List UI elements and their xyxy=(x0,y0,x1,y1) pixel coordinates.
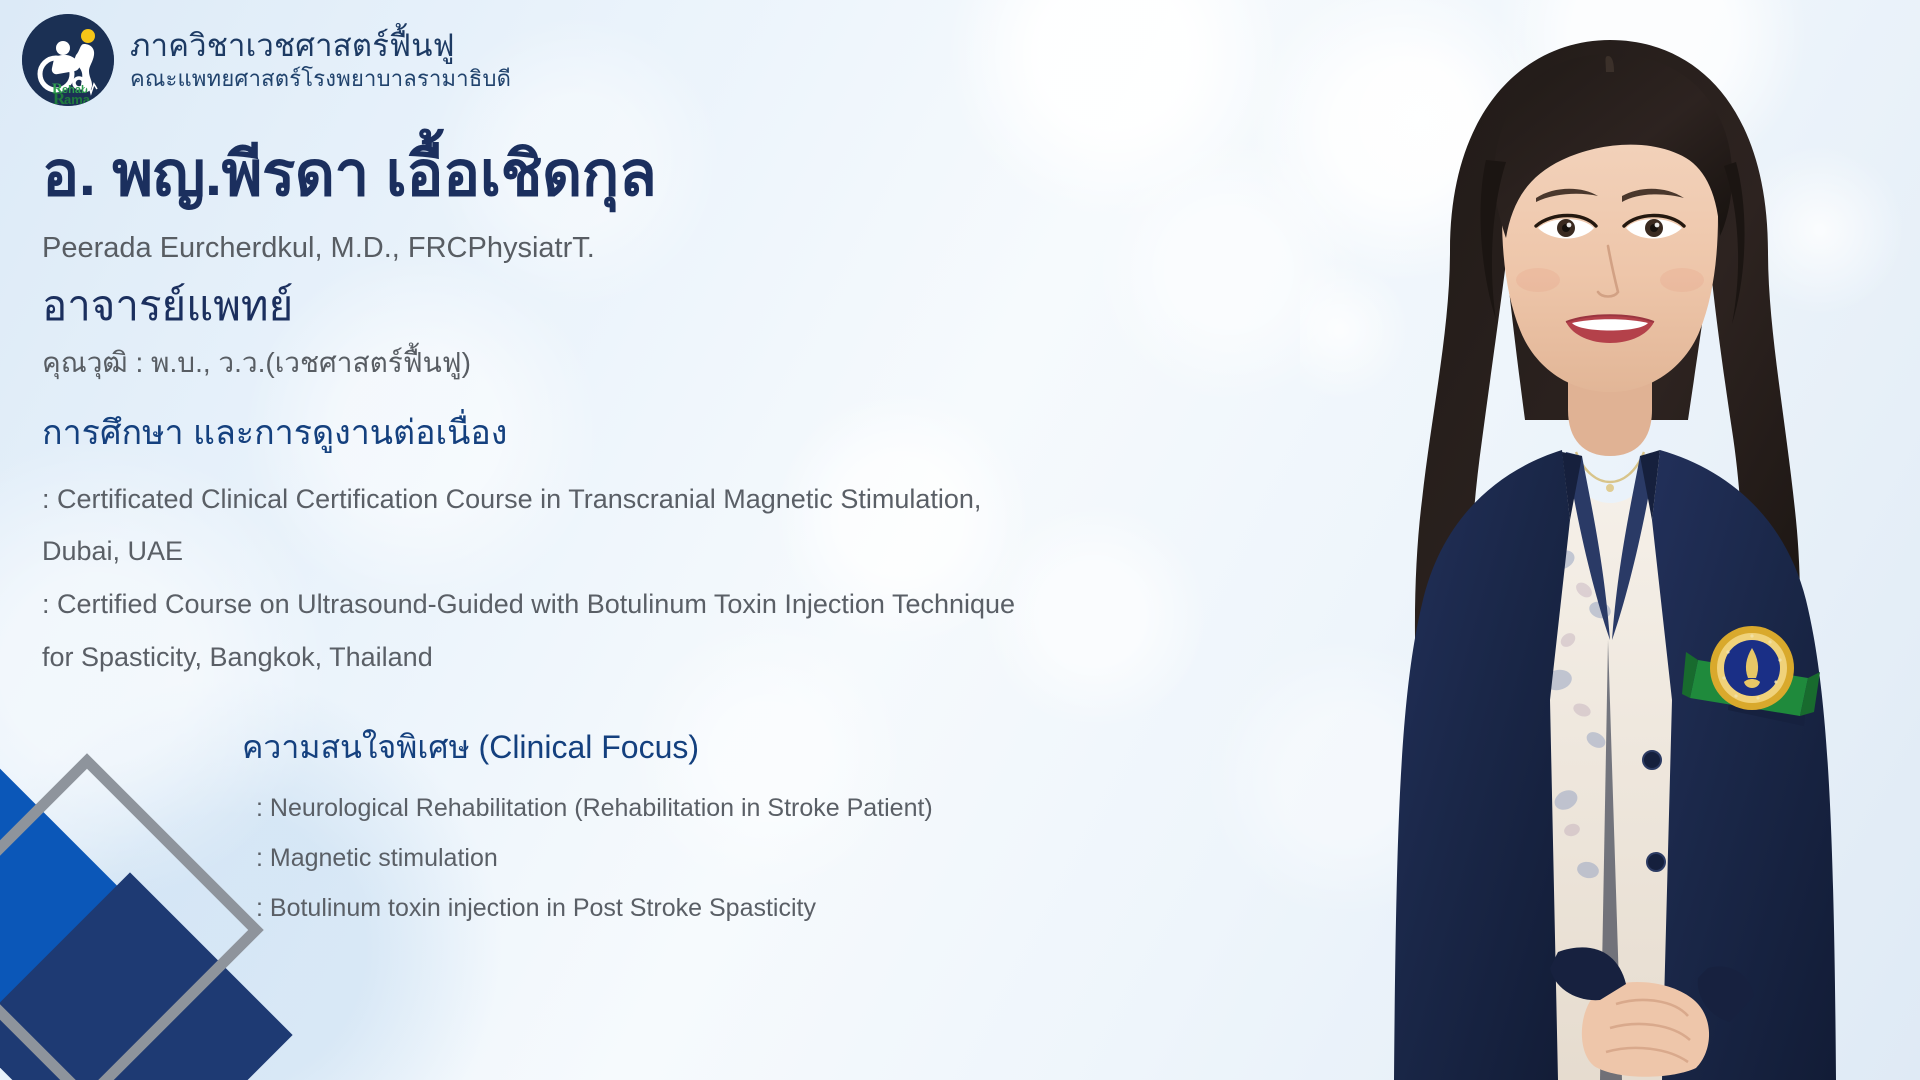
education-item: : Certificated Clinical Certification Co… xyxy=(42,473,1362,526)
clinical-focus-item: : Botulinum toxin injection in Post Stro… xyxy=(256,883,1362,933)
education-heading: การศึกษา และการดูงานต่อเนื่อง xyxy=(42,412,1362,455)
department-title-block: ภาควิชาเวชศาสตร์ฟื้นฟู คณะแพทยศาสตร์โรงพ… xyxy=(130,28,511,92)
rehab-rama-logo-icon: R ehab R ama xyxy=(22,14,114,106)
clinical-focus-item: : Magnetic stimulation xyxy=(256,833,1362,883)
education-item: Dubai, UAE xyxy=(42,525,1362,578)
department-name-th: ภาควิชาเวชศาสตร์ฟื้นฟู xyxy=(130,28,511,64)
doctor-portrait xyxy=(1300,0,1920,1080)
clinical-focus-section: ความสนใจพิเศษ (Clinical Focus) : Neurolo… xyxy=(242,727,1362,933)
faculty-name-th: คณะแพทยศาสตร์โรงพยาบาลรามาธิบดี xyxy=(130,66,511,92)
doctor-qualification-thai: คุณวุฒิ : พ.บ., ว.ว.(เวชศาสตร์ฟื้นฟู) xyxy=(42,343,1362,382)
department-header: R ehab R ama ภาควิชาเวชศาสตร์ฟื้นฟู คณะแ… xyxy=(22,14,511,106)
education-section: การศึกษา และการดูงานต่อเนื่อง : Certific… xyxy=(42,412,1362,683)
clinical-focus-heading: ความสนใจพิเศษ (Clinical Focus) xyxy=(242,727,1362,767)
education-item: for Spasticity, Bangkok, Thailand xyxy=(42,631,1362,684)
clinical-focus-item: : Neurological Rehabilitation (Rehabilit… xyxy=(256,783,1362,833)
doctor-name-english: Peerada Eurcherdkul, M.D., FRCPhysiatrT. xyxy=(42,229,1362,268)
doctor-name-thai: อ. พญ.พีรดา เอื้อเชิดกุล xyxy=(42,140,1362,209)
education-item: : Certified Course on Ultrasound-Guided … xyxy=(42,578,1362,631)
profile-content: อ. พญ.พีรดา เอื้อเชิดกุล Peerada Eurcher… xyxy=(42,140,1362,933)
doctor-position-thai: อาจารย์แพทย์ xyxy=(42,281,1362,331)
svg-text:ama: ama xyxy=(64,92,91,106)
